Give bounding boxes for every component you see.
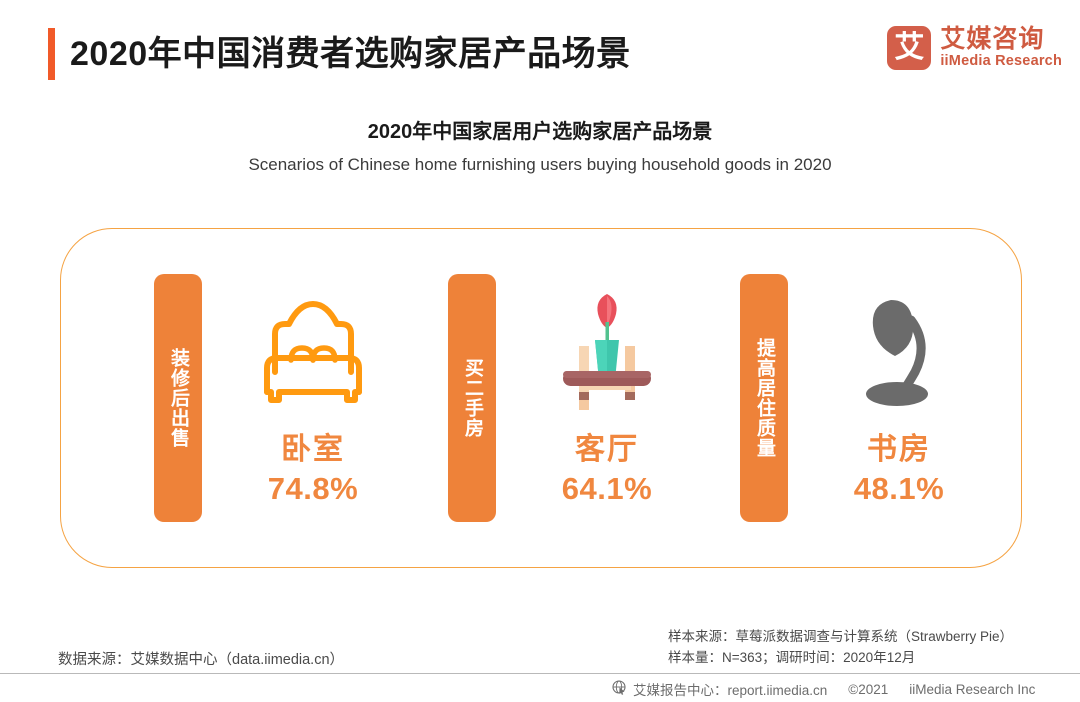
globe-cursor-icon — [612, 680, 627, 698]
attribution-bar: 艾媒报告中心：report.iimedia.cn ©2021 iiMedia R… — [612, 679, 1035, 699]
company-text: iiMedia Research Inc — [909, 682, 1035, 697]
brand-logo: 艾 艾媒咨询 iiMedia Research — [887, 26, 1062, 70]
chart-subtitle-en: Scenarios of Chinese home furnishing use… — [0, 155, 1080, 175]
chart-subtitle-cn: 2020年中国家居用户选购家居产品场景 — [0, 115, 1080, 144]
scenario-label-1: 装修后出售 — [154, 274, 202, 522]
sample-size-text: 样本量：N=363；调研时间：2020年12月 — [668, 647, 1013, 668]
room-item-3: 书房 48.1% — [814, 290, 984, 507]
desk-lamp-icon — [849, 290, 949, 410]
scenario-label-2: 买二手房 — [448, 274, 496, 522]
logo-name-cn: 艾媒咨询 — [940, 26, 1062, 53]
data-source-text: 数据来源：艾媒数据中心（data.iimedia.cn） — [58, 648, 344, 669]
logo-mark-icon: 艾 — [887, 26, 931, 70]
room-percent-1: 74.8% — [268, 471, 358, 507]
room-item-2: 客厅 64.1% — [522, 290, 692, 507]
room-percent-2: 64.1% — [562, 471, 652, 507]
room-name-3: 书房 — [867, 424, 931, 468]
scenario-group-2: 买二手房 — [448, 274, 692, 522]
logo-text: 艾媒咨询 iiMedia Research — [940, 26, 1062, 70]
room-percent-3: 48.1% — [854, 471, 944, 507]
room-name-1: 卧室 — [281, 424, 345, 468]
room-item-1: 卧室 74.8% — [228, 290, 398, 507]
sample-info: 样本来源：草莓派数据调查与计算系统（Strawberry Pie） 样本量：N=… — [668, 626, 1013, 668]
scenario-group-1: 装修后出售 卧室 74.8% — [154, 274, 398, 522]
report-center-text: 艾媒报告中心：report.iimedia.cn — [633, 679, 827, 699]
scenario-groups: 装修后出售 卧室 74.8% 买二手房 — [60, 228, 1022, 568]
scenario-label-3: 提高居住质量 — [740, 274, 788, 522]
logo-name-en: iiMedia Research — [940, 53, 1062, 70]
bed-icon — [255, 290, 371, 410]
footer-divider — [0, 673, 1080, 674]
sample-source-text: 样本来源：草莓派数据调查与计算系统（Strawberry Pie） — [668, 626, 1013, 647]
page-title: 2020年中国消费者选购家居产品场景 — [70, 28, 631, 80]
page-header: 2020年中国消费者选购家居产品场景 艾 艾媒咨询 iiMedia Resear… — [0, 0, 1080, 100]
table-plant-icon — [553, 290, 661, 410]
copyright-text: ©2021 — [848, 682, 888, 697]
title-accent-bar — [48, 28, 55, 80]
room-name-2: 客厅 — [575, 424, 639, 468]
scenario-group-3: 提高居住质量 书房 48.1% — [740, 274, 984, 522]
